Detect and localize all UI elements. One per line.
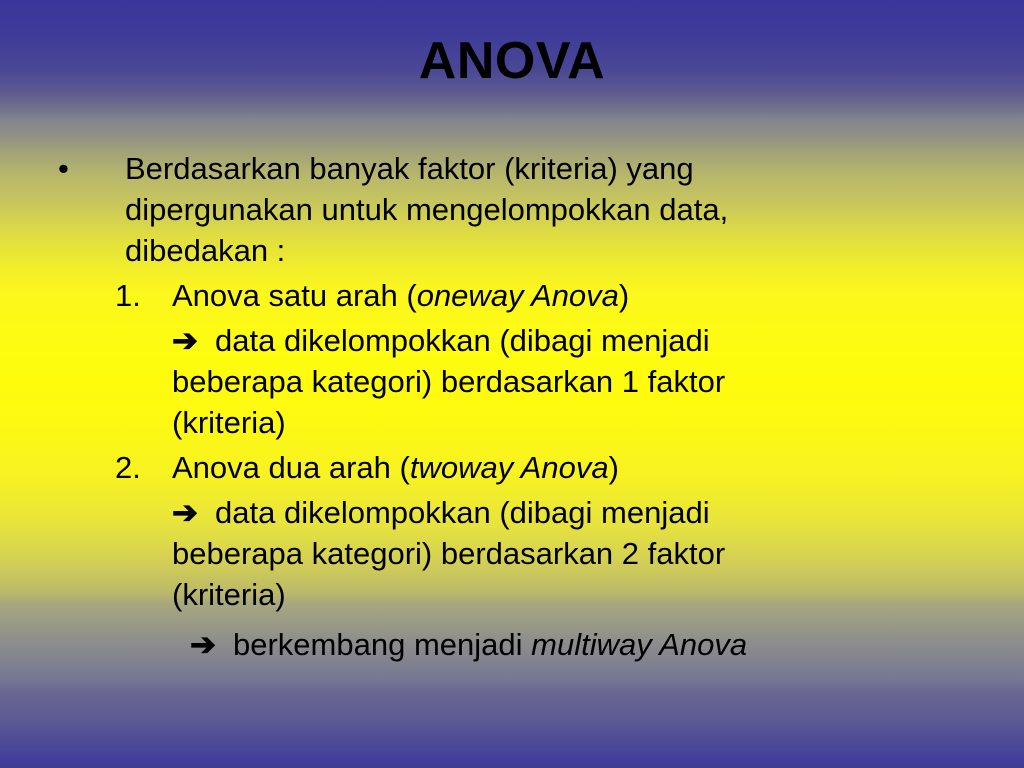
list-number-1: 1. [115, 275, 165, 316]
numbered-item-1-term: oneway Anova [417, 278, 619, 313]
detail-1-text-2: beberapa kategori) berdasarkan 1 faktor [172, 364, 725, 399]
closing-term: multiway Anova [531, 627, 747, 662]
numbered-item-1: 1.Anova satu arah (oneway Anova) [172, 275, 1024, 316]
numbered-item-2: 2.Anova dua arah (twoway Anova) [172, 447, 1024, 488]
closing-text: berkembang menjadi [233, 627, 531, 662]
detail-1-line-1: ➔data dikelompokkan (dibagi menjadi [172, 320, 1024, 361]
detail-1-line-3: (kriteria) [172, 402, 1024, 443]
content-placeholder: •Berdasarkan banyak faktor (kriteria) ya… [0, 148, 1024, 665]
detail-1-text-3: (kriteria) [172, 405, 286, 440]
numbered-item-2-tail: ) [609, 450, 619, 485]
numbered-item-2-text: Anova dua arah ( [172, 450, 410, 485]
title-placeholder: ANOVA [0, 34, 1024, 89]
arrow-right-icon: ➔ [190, 624, 233, 665]
numbered-item-1-text: Anova satu arah ( [172, 278, 417, 313]
arrow-right-icon: ➔ [172, 492, 215, 533]
bullet-intro-line-3: dibedakan : [125, 230, 1024, 271]
numbered-item-2-term: twoway Anova [410, 450, 609, 485]
detail-2-text-1: data dikelompokkan (dibagi menjadi [215, 495, 710, 530]
bullet-dot-icon: • [58, 148, 98, 189]
detail-2-line-3: (kriteria) [172, 574, 1024, 615]
page-title: ANOVA [419, 34, 605, 89]
bullet-intro-text-1: Berdasarkan banyak faktor (kriteria) yan… [125, 151, 694, 186]
arrow-right-icon: ➔ [172, 320, 215, 361]
numbered-item-1-tail: ) [619, 278, 629, 313]
detail-2-text-2: beberapa kategori) berdasarkan 2 faktor [172, 536, 725, 571]
detail-2-text-3: (kriteria) [172, 577, 286, 612]
detail-2-line-1: ➔data dikelompokkan (dibagi menjadi [172, 492, 1024, 533]
slide-canvas: ANOVA •Berdasarkan banyak faktor (kriter… [0, 0, 1024, 768]
bullet-intro-text-2: dipergunakan untuk mengelompokkan data, [125, 192, 728, 227]
detail-1-text-1: data dikelompokkan (dibagi menjadi [215, 323, 710, 358]
bullet-intro-text-3: dibedakan : [125, 233, 285, 268]
detail-2-line-2: beberapa kategori) berdasarkan 2 faktor [172, 533, 1024, 574]
bullet-intro-line-1: •Berdasarkan banyak faktor (kriteria) ya… [125, 148, 1024, 189]
list-number-2: 2. [115, 447, 165, 488]
closing-line: ➔berkembang menjadi multiway Anova [190, 624, 1024, 665]
bullet-intro-line-2: dipergunakan untuk mengelompokkan data, [125, 189, 1024, 230]
detail-1-line-2: beberapa kategori) berdasarkan 1 faktor [172, 361, 1024, 402]
